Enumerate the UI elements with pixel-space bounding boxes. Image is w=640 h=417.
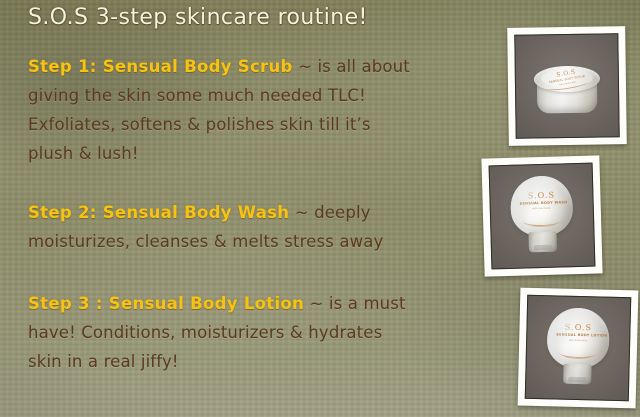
- product-photo-scrub: S.O.S SENSUAL BODY SCRUB with shea butte…: [507, 26, 627, 146]
- lotion-bottle-graphic: S.O.S SENSUAL BODY LOTION with shea butt…: [546, 307, 610, 388]
- step-2-label: Step 2: Sensual Body Wash: [28, 203, 289, 222]
- bottle-cap: [528, 232, 557, 253]
- step-1-separator: ~: [298, 57, 312, 76]
- step-2-line-0: deeply: [314, 203, 371, 222]
- bottle-label: S.O.S SENSUAL BODY WASH with shea butter: [519, 190, 564, 211]
- step-block-2: Step 2: Sensual Body Wash ~ deeply moist…: [28, 198, 488, 256]
- step-1-line-1: giving the skin some much needed TLC!: [28, 81, 488, 110]
- step-1-line-3: plush & lush!: [28, 139, 488, 168]
- step-3-separator: ~: [310, 294, 324, 313]
- step-1-label: Step 1: Sensual Body Scrub: [28, 57, 293, 76]
- step-1-line-2: Exfoliates, softens & polishes skin till…: [28, 110, 488, 139]
- product-photo-lotion: S.O.S SENSUAL BODY LOTION with shea butt…: [518, 288, 639, 409]
- step-3-line-1: have! Conditions, moisturizers & hydrate…: [28, 318, 488, 347]
- step-1-line-0: is all about: [317, 57, 409, 76]
- step-1-headline: Step 1: Sensual Body Scrub ~ is all abou…: [28, 52, 488, 81]
- photo-backdrop: S.O.S SENSUAL BODY SCRUB with shea butte…: [514, 33, 619, 138]
- text-column: S.O.S 3-step skincare routine! Step 1: S…: [0, 0, 492, 417]
- step-block-3: Step 3 : Sensual Body Lotion ~ is a must…: [28, 289, 488, 376]
- step-2-headline: Step 2: Sensual Body Wash ~ deeply: [28, 198, 488, 227]
- photo-backdrop: S.O.S SENSUAL BODY WASH with shea butter: [489, 163, 596, 270]
- step-2-separator: ~: [295, 203, 309, 222]
- bottle-label: S.O.S SENSUAL BODY LOTION with shea butt…: [556, 322, 600, 343]
- step-3-line-2: skin in a real jiffy!: [28, 347, 488, 376]
- poster-canvas: S.O.S 3-step skincare routine! Step 1: S…: [0, 0, 640, 417]
- product-photo-wash: S.O.S SENSUAL BODY WASH with shea butter: [481, 155, 602, 276]
- step-2-line-1: moisturizes, cleanses & melts stress awa…: [28, 227, 488, 256]
- bottle-cap: [563, 364, 591, 385]
- photo-backdrop: S.O.S SENSUAL BODY LOTION with shea butt…: [525, 295, 632, 402]
- step-block-1: Step 1: Sensual Body Scrub ~ is all abou…: [28, 52, 488, 168]
- scrub-jar-graphic: S.O.S SENSUAL BODY SCRUB with shea butte…: [534, 66, 601, 115]
- step-3-label: Step 3 : Sensual Body Lotion: [28, 294, 304, 313]
- wash-bottle-graphic: S.O.S SENSUAL BODY WASH with shea butter: [510, 175, 574, 257]
- step-3-line-0: is a must: [329, 294, 406, 313]
- step-3-headline: Step 3 : Sensual Body Lotion ~ is a must: [28, 289, 488, 318]
- page-title: S.O.S 3-step skincare routine!: [28, 5, 368, 30]
